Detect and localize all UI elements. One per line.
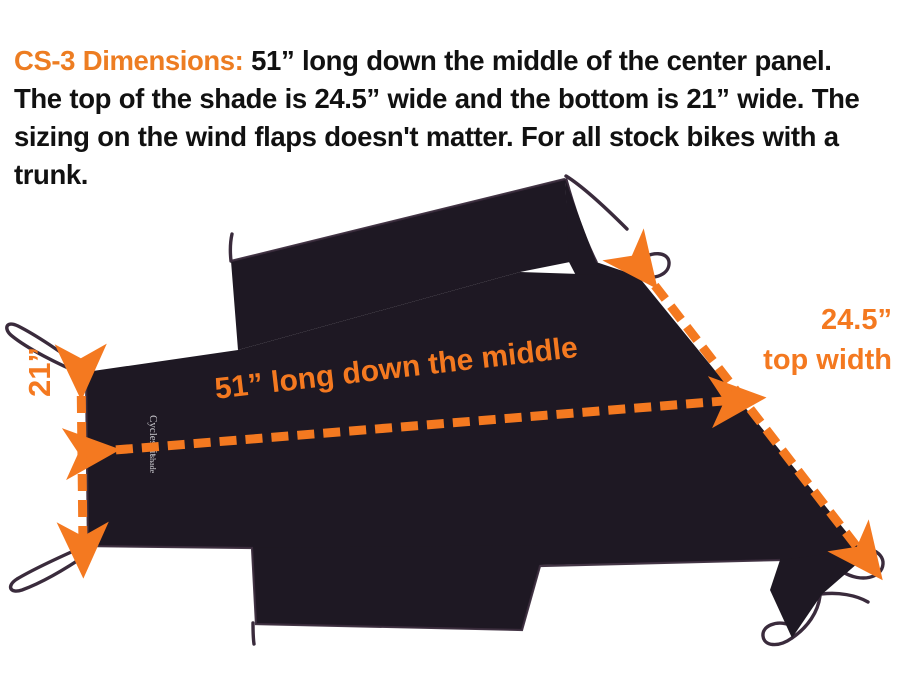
shade-fabric xyxy=(86,179,866,638)
strap-bottom-right-b xyxy=(822,593,868,602)
svg-text:shade: shade xyxy=(148,455,157,474)
arrow-bottom-width xyxy=(81,370,83,548)
label-top-width: 24.5” top width xyxy=(763,300,892,380)
label-top-width-value: 24.5” xyxy=(763,300,892,340)
fabric-lower-panel xyxy=(252,545,540,630)
strap-top-center xyxy=(230,234,232,261)
product-dimension-diagram: CS-3 Dimensions: 51” long down the middl… xyxy=(0,0,900,692)
loop-lower-left xyxy=(11,545,89,591)
strap-bottom-center xyxy=(253,623,254,644)
label-bottom-width: 21” xyxy=(22,347,58,397)
label-top-width-caption: top width xyxy=(763,340,892,380)
